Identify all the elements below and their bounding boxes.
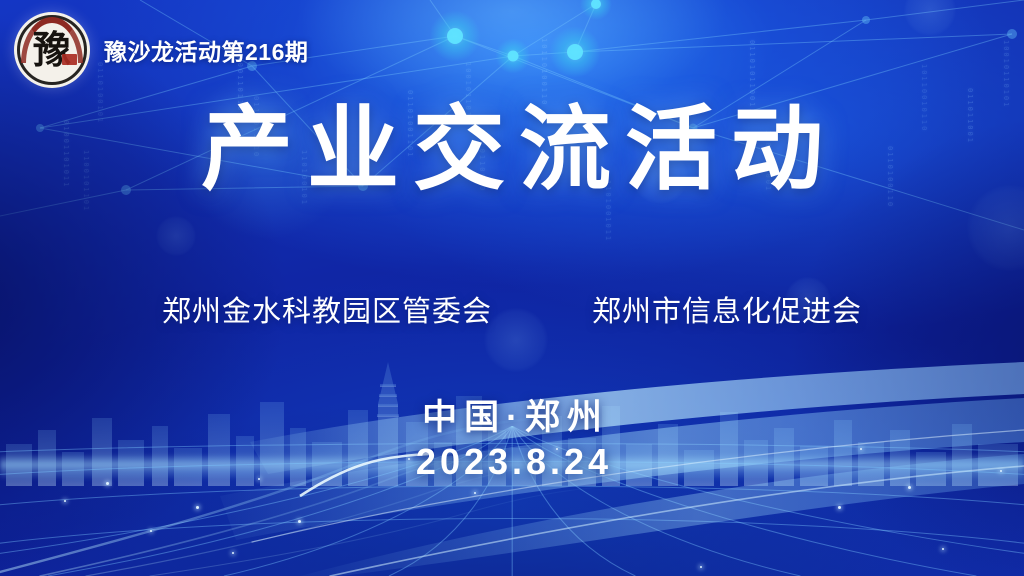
organizer-2: 郑州市信息化促进会 [592, 288, 862, 330]
binary-column: 10010110101 [1002, 40, 1010, 108]
poster-header: 豫 豫沙龙活动第216期 [14, 12, 308, 88]
organizer-1: 郑州金水科教园区管委会 [162, 288, 492, 330]
event-location: 中国·郑州 [0, 398, 1024, 438]
network-node [1007, 29, 1017, 39]
yu-seal-logo-icon: 豫 [14, 12, 90, 88]
logo-glyph: 豫 [14, 31, 90, 69]
event-location-block: 中国·郑州 2023.8.24 [0, 398, 1024, 482]
logo-seal-mark [62, 54, 77, 65]
page-title: 产业交流活动 [0, 104, 1024, 196]
network-node [447, 28, 463, 44]
network-node [508, 51, 519, 62]
network-node [567, 44, 583, 60]
event-date: 2023.8.24 [0, 442, 1024, 482]
binary-column: 10110100110 [540, 38, 548, 106]
bokeh-circle [904, 0, 956, 36]
bokeh-circle [156, 216, 196, 256]
network-node [862, 16, 870, 24]
bokeh-circle [967, 185, 1024, 271]
network-node [591, 0, 601, 9]
event-series-title: 豫沙龙活动第216期 [104, 33, 308, 67]
organizer-list: 郑州金水科教园区管委会 郑州市信息化促进会 [0, 288, 1024, 330]
event-poster: 0100110101111001011010110100101101001101… [0, 0, 1024, 576]
